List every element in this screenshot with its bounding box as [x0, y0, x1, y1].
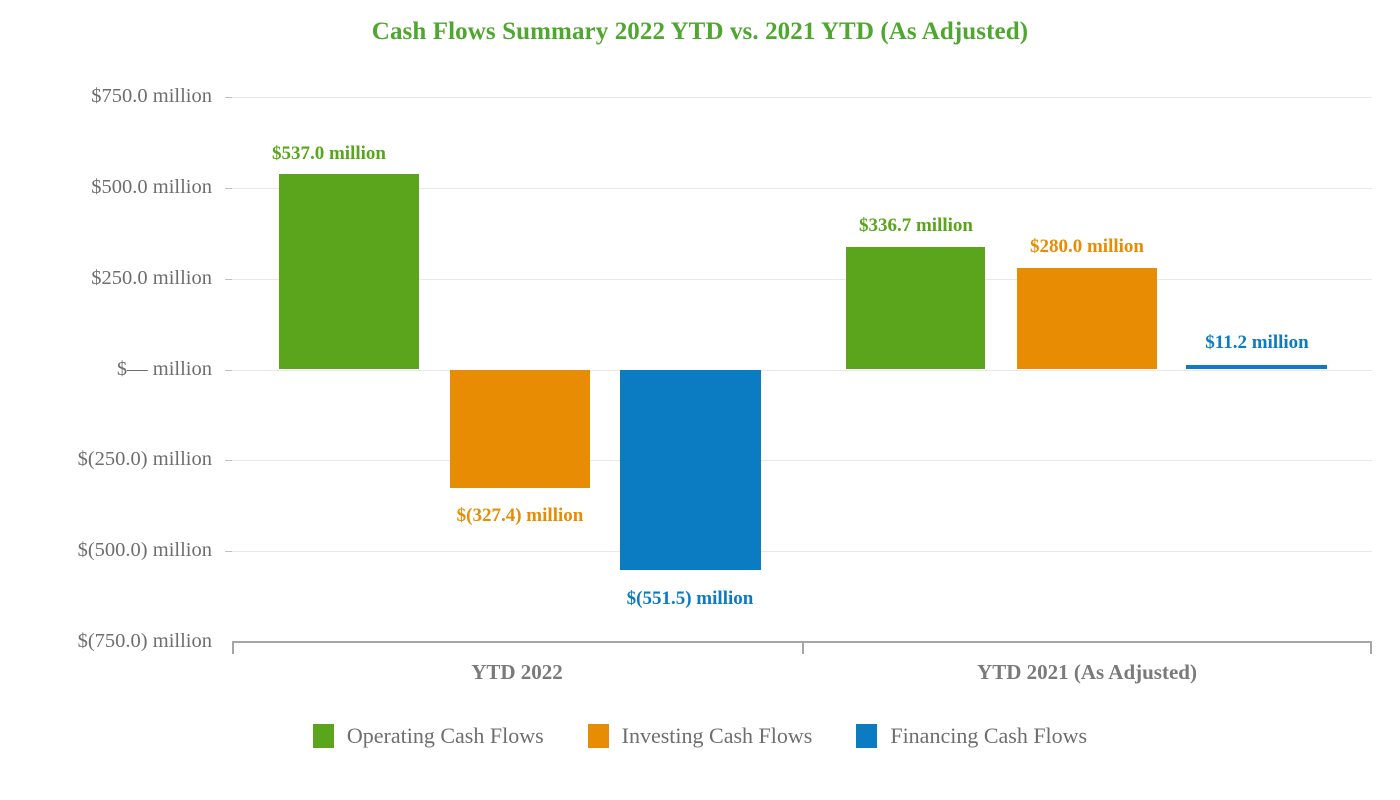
legend-item-operating[interactable]: Operating Cash Flows [313, 723, 544, 749]
cash-flows-chart: Cash Flows Summary 2022 YTD vs. 2021 YTD… [0, 0, 1400, 800]
y-tick-label: $(500.0) million [0, 539, 212, 562]
legend-label: Investing Cash Flows [622, 723, 813, 749]
legend: Operating Cash Flows Investing Cash Flow… [0, 723, 1400, 749]
category-axis-tick [802, 641, 804, 654]
legend-swatch-icon [588, 724, 609, 748]
legend-item-financing[interactable]: Financing Cash Flows [856, 723, 1087, 749]
data-label-financing-2022: $(551.5) million [590, 588, 790, 610]
legend-item-investing[interactable]: Investing Cash Flows [588, 723, 813, 749]
y-tick-mark [225, 188, 232, 189]
y-tick-mark [225, 460, 232, 461]
y-tick-mark [225, 551, 232, 552]
y-tick-label: $250.0 million [0, 267, 212, 290]
y-tick-label: $750.0 million [0, 85, 212, 108]
y-tick-mark [225, 97, 232, 98]
legend-swatch-icon [856, 724, 877, 748]
category-label-ytd-2022: YTD 2022 [232, 660, 802, 685]
y-tick-label: $500.0 million [0, 176, 212, 199]
category-label-ytd-2021: YTD 2021 (As Adjusted) [802, 660, 1372, 685]
data-label-financing-2021: $11.2 million [1157, 332, 1357, 354]
y-tick-label: $(750.0) million [0, 630, 212, 653]
category-axis-tick [232, 641, 234, 654]
y-tick-label: $— million [0, 358, 212, 381]
legend-label: Operating Cash Flows [347, 723, 544, 749]
category-axis-tick [1370, 641, 1372, 654]
legend-label: Financing Cash Flows [890, 723, 1087, 749]
data-label-investing-2022: $(327.4) million [420, 505, 620, 527]
data-label-investing-2021: $280.0 million [987, 236, 1187, 258]
legend-swatch-icon [313, 724, 334, 748]
y-tick-mark [225, 370, 232, 371]
y-tick-label: $(250.0) million [0, 448, 212, 471]
data-label-operating-2022: $537.0 million [229, 143, 429, 165]
data-label-operating-2021: $336.7 million [816, 215, 1016, 237]
y-tick-mark [225, 279, 232, 280]
